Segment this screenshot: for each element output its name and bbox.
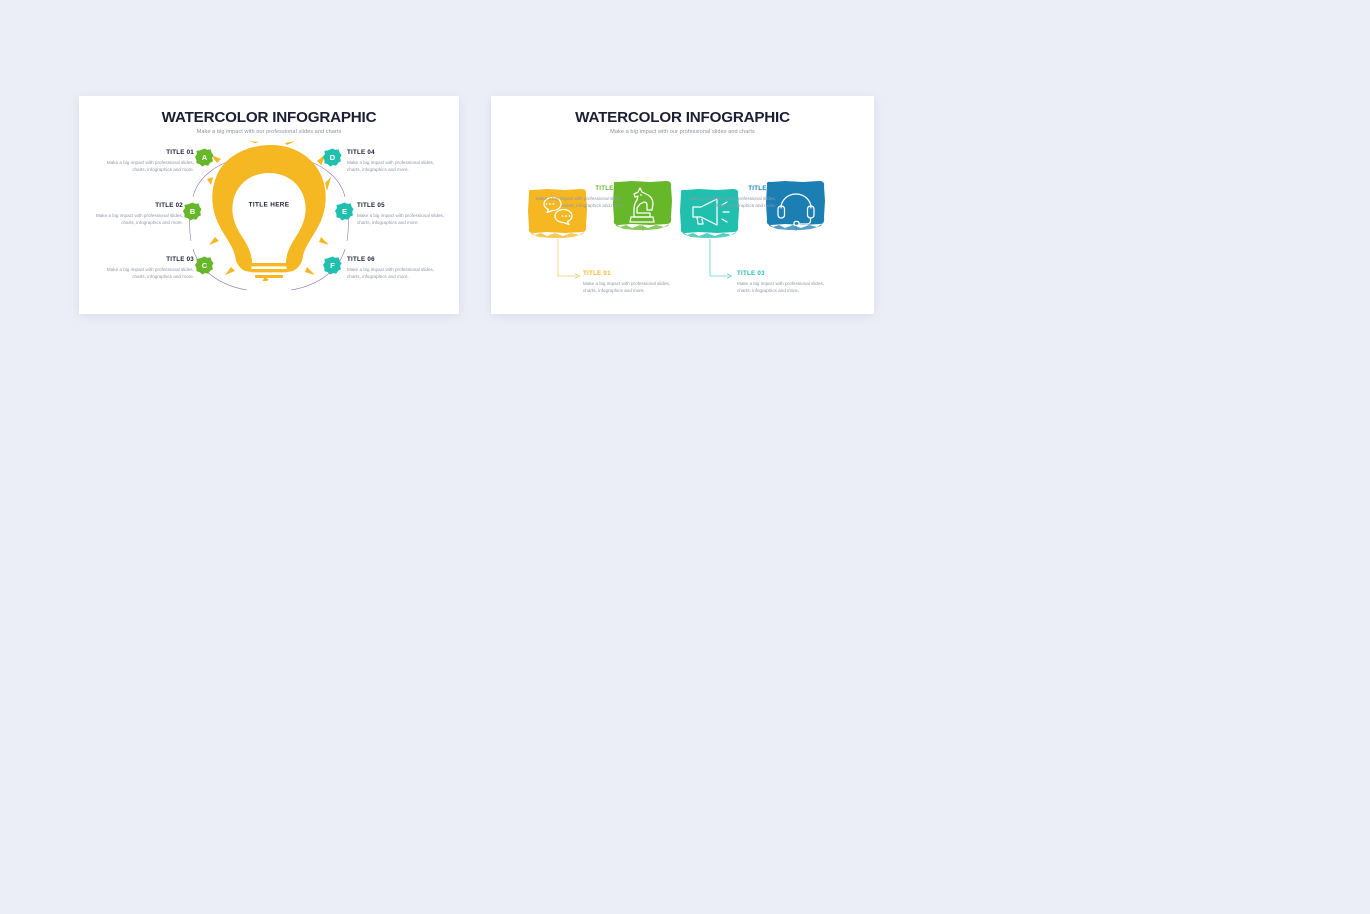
badge-e-letter: E xyxy=(342,208,347,216)
badge-a-letter: A xyxy=(202,154,207,162)
slide2-title-02: TITLE 02 xyxy=(523,185,623,192)
item-text-title-01: TITLE 01 Make a big impact with professi… xyxy=(98,149,194,173)
watercolor-lightbulb-graphic: TITLE HERE xyxy=(207,141,331,281)
item-desc-03: Make a big impact with professional slid… xyxy=(98,266,194,281)
item-title-05: TITLE 05 xyxy=(357,202,453,209)
item-desc-06: Make a big impact with professional slid… xyxy=(347,266,443,281)
screenshot-stage: WATERCOLOR INFOGRAPHIC Make a big impact… xyxy=(0,0,1370,914)
badge-d-letter: D xyxy=(330,154,335,162)
badge-f[interactable]: F xyxy=(323,256,342,275)
slide2-header: WATERCOLOR INFOGRAPHIC Make a big impact… xyxy=(491,96,874,135)
slide2-desc-02: Make a big impact with professional slid… xyxy=(523,195,623,210)
slide2-title: WATERCOLOR INFOGRAPHIC xyxy=(491,110,874,126)
badge-d[interactable]: D xyxy=(323,148,342,167)
item-desc-04: Make a big impact with professional slid… xyxy=(347,159,443,174)
item-desc-02: Make a big impact with professional slid… xyxy=(87,212,183,227)
slide2-desc-01: Make a big impact with professional slid… xyxy=(583,280,683,295)
item-text-title-03: TITLE 03 Make a big impact with professi… xyxy=(98,256,194,280)
slide2-text-title-03: TITLE 03 Make a big impact with professi… xyxy=(737,270,837,294)
slide1-header: WATERCOLOR INFOGRAPHIC Make a big impact… xyxy=(79,96,459,135)
slide2-content: TITLE 02 Make a big impact with professi… xyxy=(491,135,874,310)
badge-b-letter: B xyxy=(190,208,195,216)
slide2-title-03: TITLE 03 xyxy=(737,270,837,277)
badge-f-letter: F xyxy=(330,262,335,270)
badge-a[interactable]: A xyxy=(195,148,214,167)
slide2-desc-04: Make a big impact with professional slid… xyxy=(676,195,776,210)
slide2-desc-03: Make a big impact with professional slid… xyxy=(737,280,837,295)
slide2-text-title-02: TITLE 02 Make a big impact with professi… xyxy=(523,185,623,209)
item-text-title-06: TITLE 06 Make a big impact with professi… xyxy=(347,256,443,280)
slide1-title: WATERCOLOR INFOGRAPHIC xyxy=(79,110,459,126)
item-text-title-04: TITLE 04 Make a big impact with professi… xyxy=(347,149,443,173)
badge-c-letter: C xyxy=(202,262,207,270)
lightbulb-splash-icon xyxy=(207,141,331,281)
item-desc-01: Make a big impact with professional slid… xyxy=(98,159,194,174)
slide-card-tiles-infographic[interactable]: WATERCOLOR INFOGRAPHIC Make a big impact… xyxy=(491,96,874,314)
badge-b[interactable]: B xyxy=(183,202,202,221)
item-text-title-02: TITLE 02 Make a big impact with professi… xyxy=(87,202,183,226)
item-desc-05: Make a big impact with professional slid… xyxy=(357,212,453,227)
item-title-01: TITLE 01 xyxy=(98,149,194,156)
slide2-text-title-01: TITLE 01 Make a big impact with professi… xyxy=(583,270,683,294)
item-title-03: TITLE 03 xyxy=(98,256,194,263)
badge-e[interactable]: E xyxy=(335,202,354,221)
slide-card-circular-infographic[interactable]: WATERCOLOR INFOGRAPHIC Make a big impact… xyxy=(79,96,459,314)
slide2-text-title-04: TITLE 04 Make a big impact with professi… xyxy=(676,185,776,209)
slide2-title-01: TITLE 01 xyxy=(583,270,683,277)
item-text-title-05: TITLE 05 Make a big impact with professi… xyxy=(357,202,453,226)
item-title-06: TITLE 06 xyxy=(347,256,443,263)
slide1-content: TITLE HERE TITLE 01 Make a big impact wi… xyxy=(79,135,459,310)
item-title-02: TITLE 02 xyxy=(87,202,183,209)
slide2-title-04: TITLE 04 xyxy=(676,185,776,192)
center-title-label: TITLE HERE xyxy=(249,202,290,209)
badge-c[interactable]: C xyxy=(195,256,214,275)
item-title-04: TITLE 04 xyxy=(347,149,443,156)
